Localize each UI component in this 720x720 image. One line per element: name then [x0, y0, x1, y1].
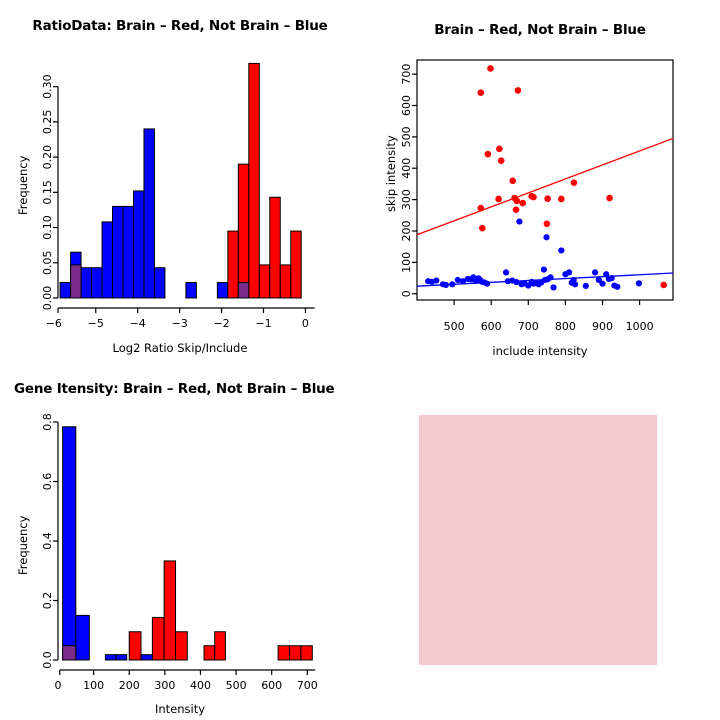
- x-tick-label: 700: [518, 320, 539, 333]
- scatter-point: [550, 284, 556, 290]
- histogram-bar: [204, 646, 215, 660]
- histogram-bar: [270, 197, 280, 298]
- histogram-bar: [228, 231, 238, 298]
- scatter-point: [544, 195, 551, 202]
- scatter-point: [503, 269, 509, 275]
- scatter-point: [514, 198, 521, 205]
- y-tick-label: 200: [400, 220, 413, 241]
- y-tick-label: 0.4: [41, 532, 54, 550]
- y-tick-label: 300: [400, 189, 413, 210]
- y-tick-label: 0.6: [41, 473, 54, 491]
- histogram-bar: [63, 646, 76, 660]
- histogram-bar: [133, 191, 143, 298]
- histogram-bar: [60, 283, 70, 298]
- scatter-point: [583, 283, 589, 289]
- scatter-point: [449, 281, 455, 287]
- y-tick-label: 700: [400, 64, 413, 85]
- scatter-point: [519, 200, 526, 207]
- x-tick-label: 0: [302, 317, 309, 330]
- svg-text:0.25: 0.25: [41, 110, 54, 135]
- x-tick-label: −5: [88, 317, 104, 330]
- scatter-point: [599, 281, 605, 287]
- regression-line: [417, 138, 673, 234]
- x-tick-label: 900: [592, 320, 613, 333]
- x-tick-label: 1000: [626, 320, 654, 333]
- histogram-bar: [81, 268, 91, 298]
- panel-gene-histogram: Gene Itensity: Brain – Red, Not Brain – …: [0, 360, 360, 720]
- svg-text:0.05: 0.05: [41, 251, 54, 276]
- scatter-point: [592, 269, 598, 275]
- svg-text:0.20: 0.20: [41, 145, 54, 170]
- scatter-point: [498, 157, 505, 164]
- scatter-point: [606, 195, 613, 202]
- scatter-point: [572, 281, 578, 287]
- svg-text:0.30: 0.30: [41, 74, 54, 99]
- ratio-hist-ylabel: Frequency: [16, 156, 30, 215]
- scatter-point: [609, 275, 615, 281]
- x-tick-label: 400: [190, 679, 211, 692]
- scatter-point: [484, 281, 490, 287]
- scatter-point: [485, 151, 492, 158]
- scatter-point: [515, 87, 522, 94]
- histogram-bar: [113, 206, 123, 298]
- gene-hist-title: Gene Itensity: Brain – Red, Not Brain – …: [0, 381, 360, 397]
- scatter-point: [571, 179, 578, 186]
- histogram-bar: [290, 646, 301, 660]
- x-tick-label: 500: [444, 320, 465, 333]
- svg-text:0.10: 0.10: [41, 215, 54, 240]
- histogram-bar: [238, 164, 248, 298]
- scatter-point: [433, 277, 439, 283]
- scatter-point: [478, 205, 485, 212]
- y-tick-label: 0.05: [41, 251, 54, 276]
- scatter-point: [509, 177, 516, 184]
- y-tick-label: 0.25: [41, 110, 54, 135]
- histogram-bar: [129, 632, 141, 660]
- figure-canvas: RatioData: Brain – Red, Not Brain – Blue…: [0, 0, 720, 720]
- y-tick-label: 0: [400, 290, 413, 297]
- y-tick-label: 100: [400, 252, 413, 273]
- gene-hist-xlabel: Intensity: [0, 702, 360, 716]
- y-tick-label: 0.30: [41, 74, 54, 99]
- y-tick-label: 0.0: [41, 651, 54, 669]
- scatter-point: [455, 277, 461, 283]
- gene-hist-plot: 0.00.20.40.60.80100200300400500600700: [0, 360, 360, 720]
- y-tick-label: 500: [400, 126, 413, 147]
- scatter-point: [479, 225, 486, 232]
- ratio-hist-xlabel: Log2 Ratio Skip/Include: [0, 341, 360, 355]
- histogram-bar: [144, 129, 154, 298]
- histogram-bar: [154, 268, 164, 298]
- histogram-bar: [249, 63, 259, 298]
- plot-frame: [417, 60, 673, 300]
- y-tick-label: 0.00: [41, 286, 54, 311]
- y-tick-label: 0.10: [41, 215, 54, 240]
- x-tick-label: 100: [83, 679, 104, 692]
- histogram-bar: [116, 655, 127, 660]
- histogram-bar: [280, 265, 290, 298]
- histogram-bar: [238, 283, 248, 298]
- scatter-plot: 0100200300400500600700500600700800900100…: [360, 0, 720, 360]
- ratio-hist-title: RatioData: Brain – Red, Not Brain – Blue: [0, 18, 360, 34]
- scatter-point: [496, 145, 503, 152]
- scatter-point: [541, 266, 547, 272]
- y-tick-label: 0.20: [41, 145, 54, 170]
- y-tick-label: 600: [400, 95, 413, 116]
- x-tick-label: −3: [172, 317, 188, 330]
- scatter-point: [516, 218, 522, 224]
- histogram-bar: [215, 632, 226, 660]
- x-tick-label: −2: [213, 317, 229, 330]
- histogram-bar: [71, 265, 81, 298]
- y-tick-label: 0.15: [41, 180, 54, 205]
- scatter-point: [558, 247, 564, 253]
- scatter-ylabel: skip intensity: [384, 135, 398, 212]
- histogram-bar: [105, 655, 116, 660]
- x-tick-label: −6: [46, 317, 62, 330]
- scatter-point: [636, 280, 642, 286]
- histogram-bar: [76, 615, 90, 660]
- x-tick-label: 200: [119, 679, 140, 692]
- panel-annotation: G7264954@J945602@j_at altTxStart BC01624…: [360, 360, 720, 720]
- panel-ratio-histogram: RatioData: Brain – Red, Not Brain – Blue…: [0, 0, 360, 360]
- y-tick-label: 0.8: [41, 413, 54, 431]
- histogram-bar: [152, 617, 164, 660]
- histogram-bar: [92, 268, 102, 298]
- x-tick-label: 0: [55, 679, 62, 692]
- scatter-point: [530, 194, 537, 201]
- ratio-hist-plot: 0.000.050.100.150.200.250.30−6−5−4−3−2−1…: [0, 0, 360, 360]
- scatter-point: [543, 234, 549, 240]
- histogram-bar: [102, 222, 112, 298]
- x-tick-label: −4: [130, 317, 146, 330]
- x-tick-label: 700: [297, 679, 318, 692]
- scatter-title: Brain – Red, Not Brain – Blue: [360, 22, 720, 38]
- scatter-point: [513, 206, 520, 213]
- histogram-bar: [164, 561, 175, 660]
- panel-intensity-scatter: Brain – Red, Not Brain – Blue 0100200300…: [360, 0, 720, 360]
- x-tick-label: 800: [555, 320, 576, 333]
- histogram-bar: [291, 231, 301, 298]
- scatter-point: [487, 65, 494, 72]
- histogram-bar: [278, 646, 289, 660]
- y-tick-label: 400: [400, 158, 413, 179]
- x-tick-label: 600: [261, 679, 282, 692]
- histogram-bar: [259, 265, 269, 298]
- gene-hist-ylabel: Frequency: [16, 516, 30, 575]
- scatter-point: [443, 282, 449, 288]
- histogram-bar: [63, 427, 76, 660]
- scatter-point: [478, 89, 485, 96]
- histogram-bar: [176, 632, 188, 660]
- histogram-bar: [186, 283, 196, 298]
- y-tick-label: 0.2: [41, 592, 54, 610]
- x-tick-label: 300: [154, 679, 175, 692]
- scatter-point: [544, 220, 551, 227]
- x-tick-label: 500: [226, 679, 247, 692]
- svg-text:0.00: 0.00: [41, 286, 54, 311]
- scatter-xlabel: include intensity: [360, 344, 720, 358]
- histogram-bar: [217, 283, 227, 298]
- scatter-point: [558, 196, 565, 203]
- scatter-point: [495, 196, 502, 203]
- x-tick-label: 600: [481, 320, 502, 333]
- svg-text:0.15: 0.15: [41, 180, 54, 205]
- histogram-bar: [301, 646, 312, 660]
- scatter-point: [566, 269, 572, 275]
- x-tick-label: −1: [255, 317, 271, 330]
- histogram-bar: [123, 206, 133, 298]
- scatter-point: [660, 282, 667, 289]
- histogram-bar: [141, 655, 152, 660]
- annotation-box: [419, 415, 657, 665]
- scatter-point: [547, 274, 553, 280]
- scatter-point: [614, 284, 620, 290]
